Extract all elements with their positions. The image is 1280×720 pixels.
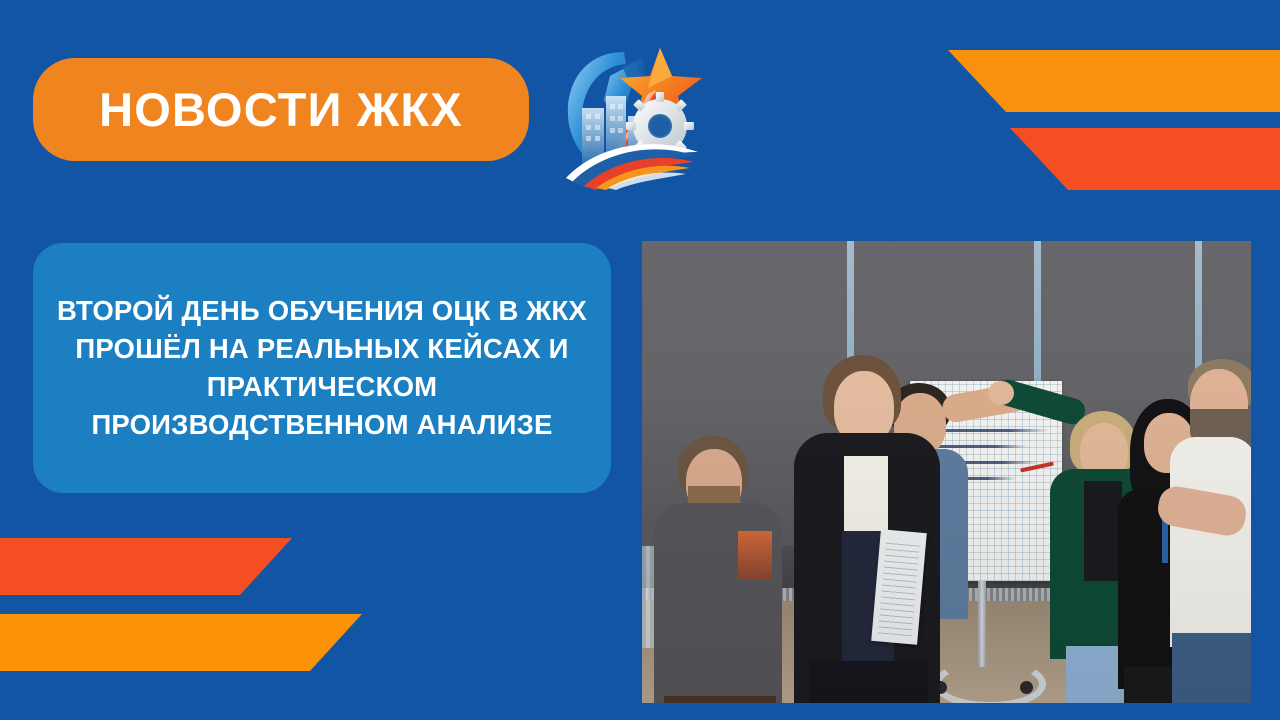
person-jeans [1172,633,1251,703]
stripe-top-right-orange [948,50,1280,112]
headline-text: ВТОРОЙ ДЕНЬ ОБУЧЕНИЯ ОЦК В ЖКХ ПРОШЁЛ НА… [51,292,593,444]
person-trousers [664,696,776,703]
stripe-top-right-red [1010,128,1280,190]
flipchart-stand [978,581,986,667]
handout-papers [871,529,927,645]
headline-panel: ВТОРОЙ ДЕНЬ ОБУЧЕНИЯ ОЦК В ЖКХ ПРОШЁЛ НА… [33,243,611,493]
stripe-bottom-left-orange [0,614,362,671]
news-badge-label: НОВОСТИ ЖКХ [99,82,463,137]
news-slide: НОВОСТИ ЖКХ [0,0,1280,720]
paper-lines [878,538,920,637]
skirt [810,661,928,703]
news-badge: НОВОСТИ ЖКХ [33,58,529,161]
person-torso [1170,437,1251,647]
flipchart-caster [1020,681,1033,694]
training-group-photo [642,241,1251,703]
inner-top [1084,481,1122,581]
photo-scene [642,241,1251,703]
stripe-bottom-left-red [0,538,292,595]
ock-zhkh-emblem-icon [552,36,708,192]
person-hand [988,381,1014,405]
tshirt-print [738,531,772,579]
